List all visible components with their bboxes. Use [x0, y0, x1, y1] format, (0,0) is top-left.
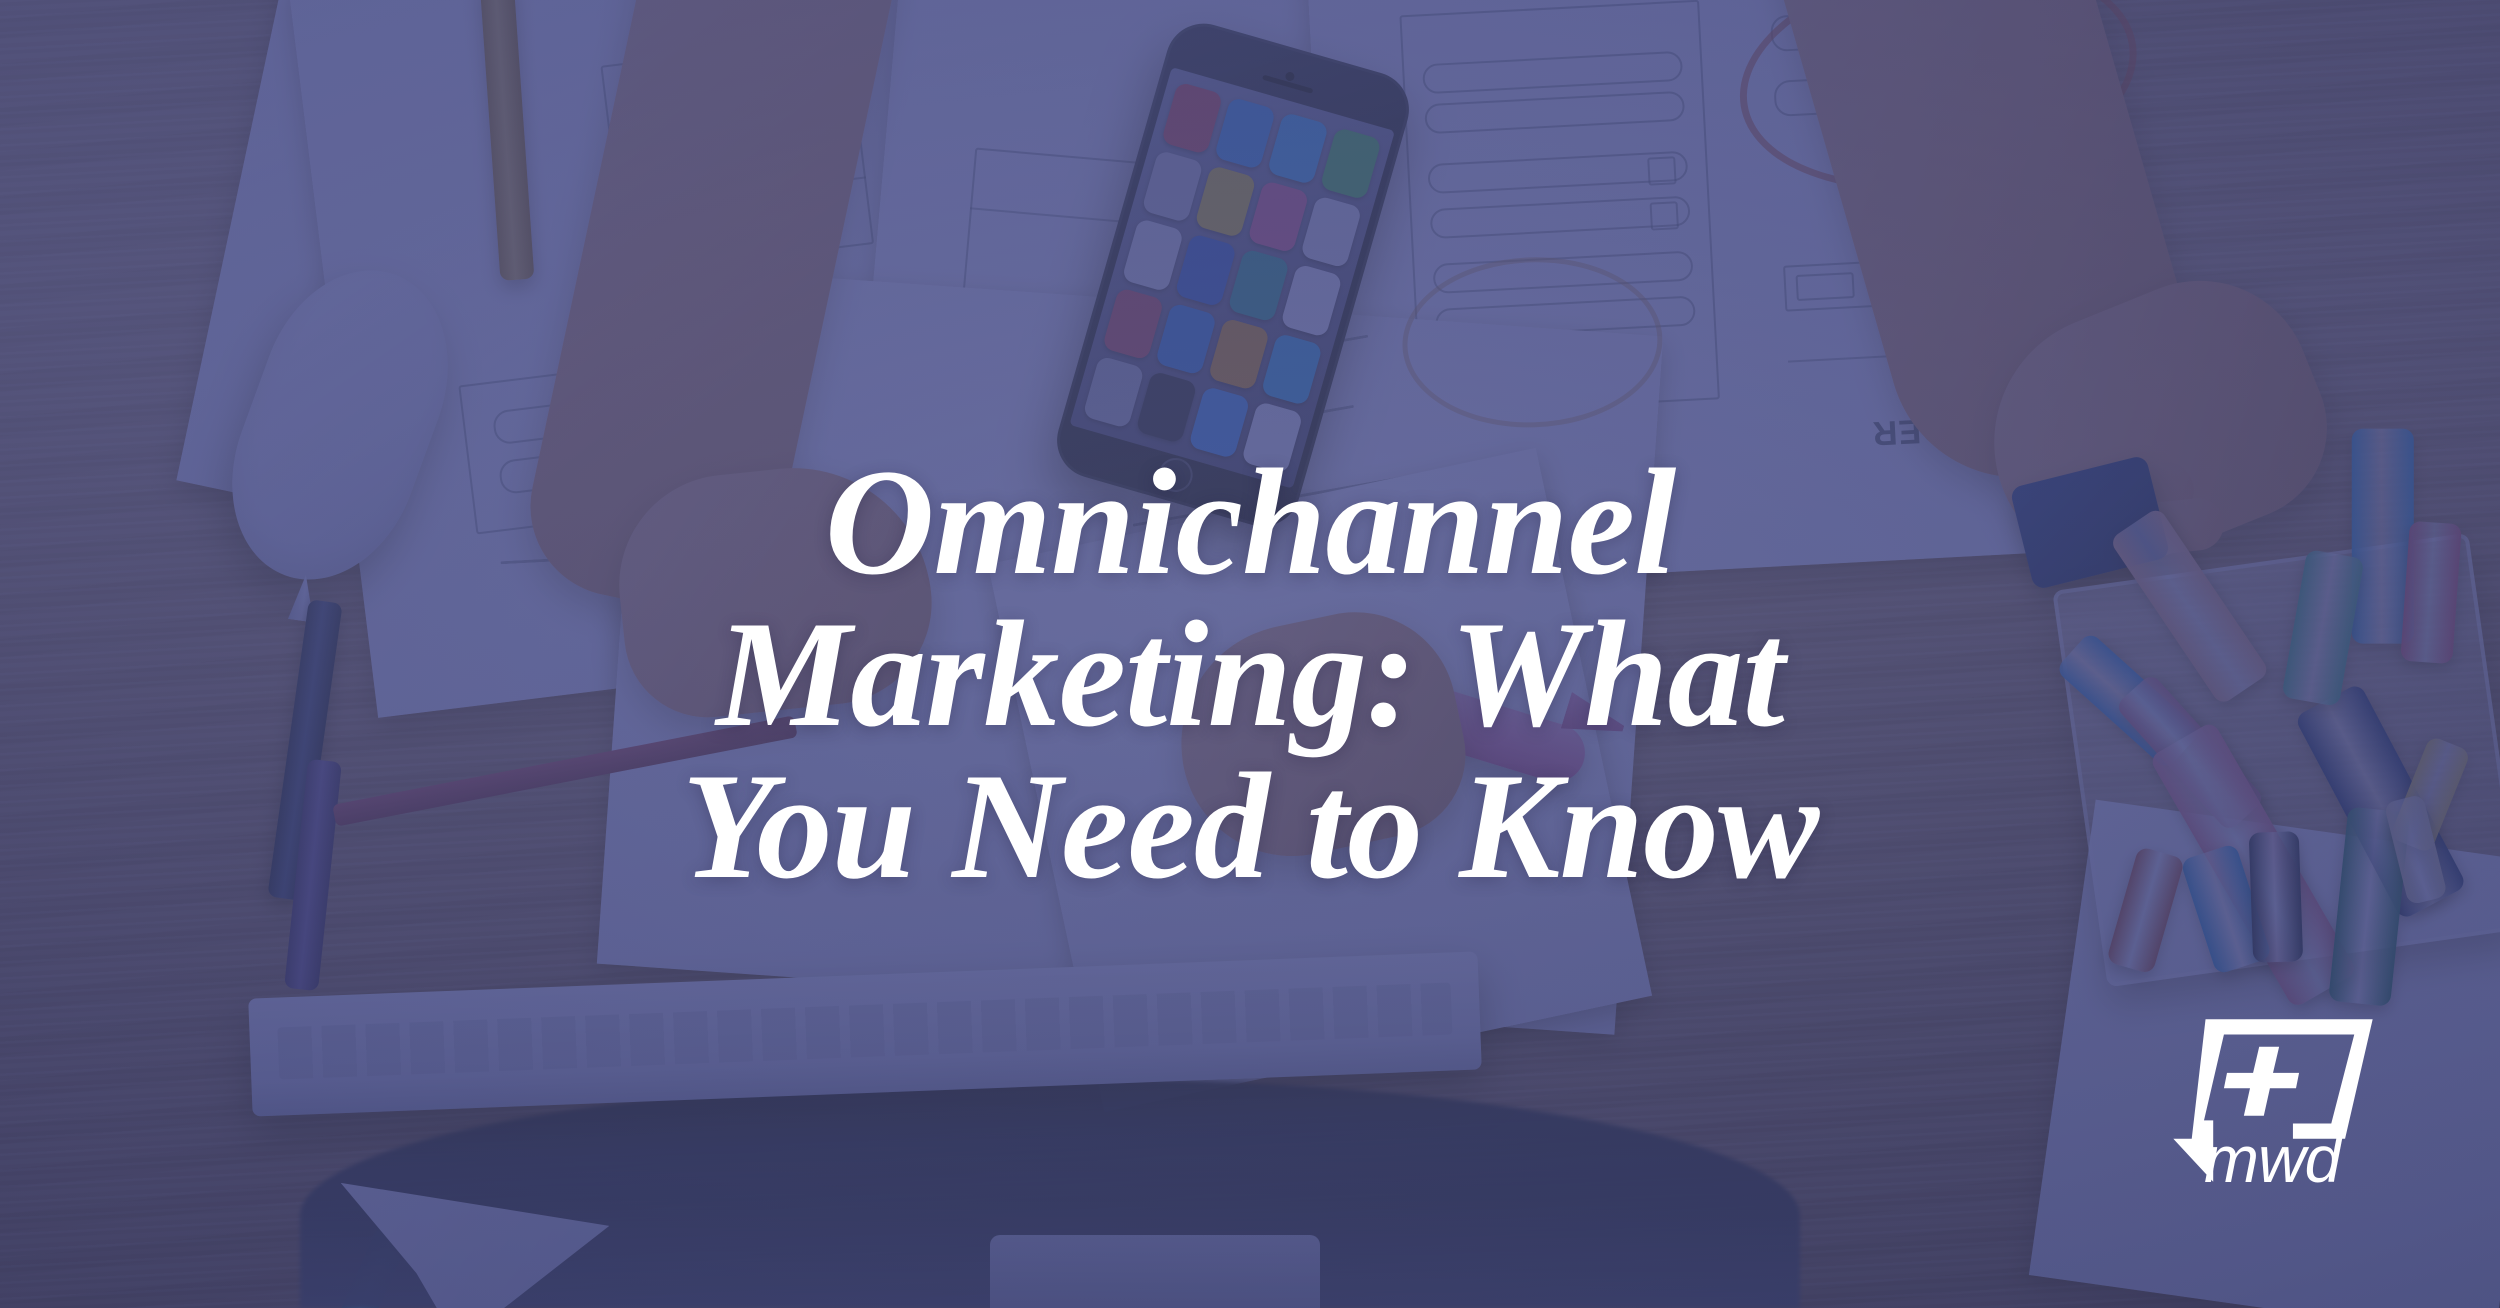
page-title: Omnichannel Marketing: What You Need to … — [0, 446, 2500, 902]
social-share-header: PHONE LOGO LISTS — [0, 0, 2500, 1308]
page-title-line-2: Marketing: What — [150, 598, 2350, 750]
page-title-line-3: You Need to Know — [150, 750, 2350, 902]
mwd-logo-wordmark: mwd — [2204, 1126, 2340, 1192]
page-title-line-1: Omnichannel — [150, 446, 2350, 598]
mwd-logo[interactable]: mwd — [2158, 1010, 2388, 1225]
